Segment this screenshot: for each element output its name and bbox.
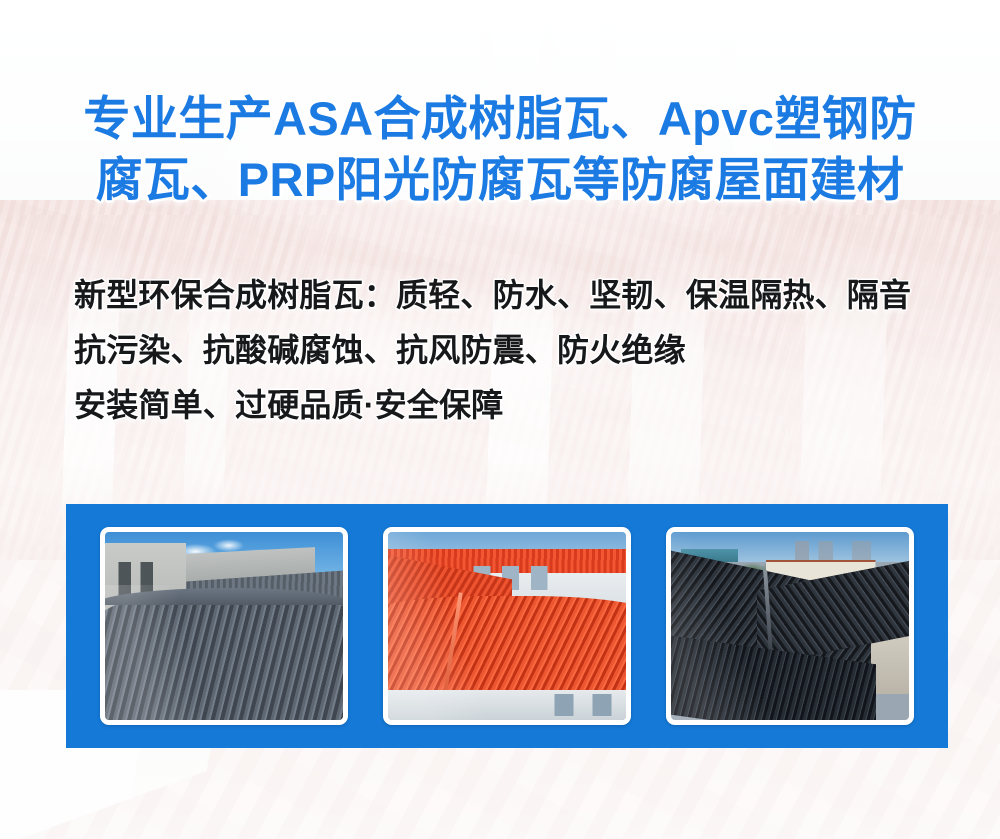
photo-frame-3[interactable]: [666, 527, 914, 725]
photo-grey-resin-tile-roof-courtyard: [105, 532, 343, 720]
subheading-line-1: 新型环保合成树脂瓦：质轻、防水、坚韧、保温隔热、隔音: [74, 268, 954, 323]
headline-line-1: 专业生产ASA合成树脂瓦、Apvc塑钢防: [0, 88, 1000, 149]
subheading-line-2: 抗污染、抗酸碱腐蚀、抗风防震、防火绝缘: [74, 323, 954, 378]
photo-gallery-panel: [66, 504, 948, 748]
photo-frame-1[interactable]: [100, 527, 348, 725]
photo2-highlight: [388, 532, 626, 720]
subheading-block: 新型环保合成树脂瓦：质轻、防水、坚韧、保温隔热、隔音 抗污染、抗酸碱腐蚀、抗风防…: [74, 268, 954, 433]
headline-line-2: 腐瓦、PRP阳光防腐瓦等防腐屋面建材: [0, 149, 1000, 210]
headline: 专业生产ASA合成树脂瓦、Apvc塑钢防 腐瓦、PRP阳光防腐瓦等防腐屋面建材: [0, 88, 1000, 210]
photo-frame-2[interactable]: [383, 527, 631, 725]
photo-red-resin-tile-roof-villas: [388, 532, 626, 720]
product-banner: 专业生产ASA合成树脂瓦、Apvc塑钢防 腐瓦、PRP阳光防腐瓦等防腐屋面建材 …: [0, 0, 1000, 839]
subheading-line-3: 安装简单、过硬品质·安全保障: [74, 378, 954, 433]
photo-black-resin-tile-roof-village: [671, 532, 909, 720]
photo1-highlight: [105, 585, 343, 720]
photo3-highlight: [671, 532, 909, 720]
